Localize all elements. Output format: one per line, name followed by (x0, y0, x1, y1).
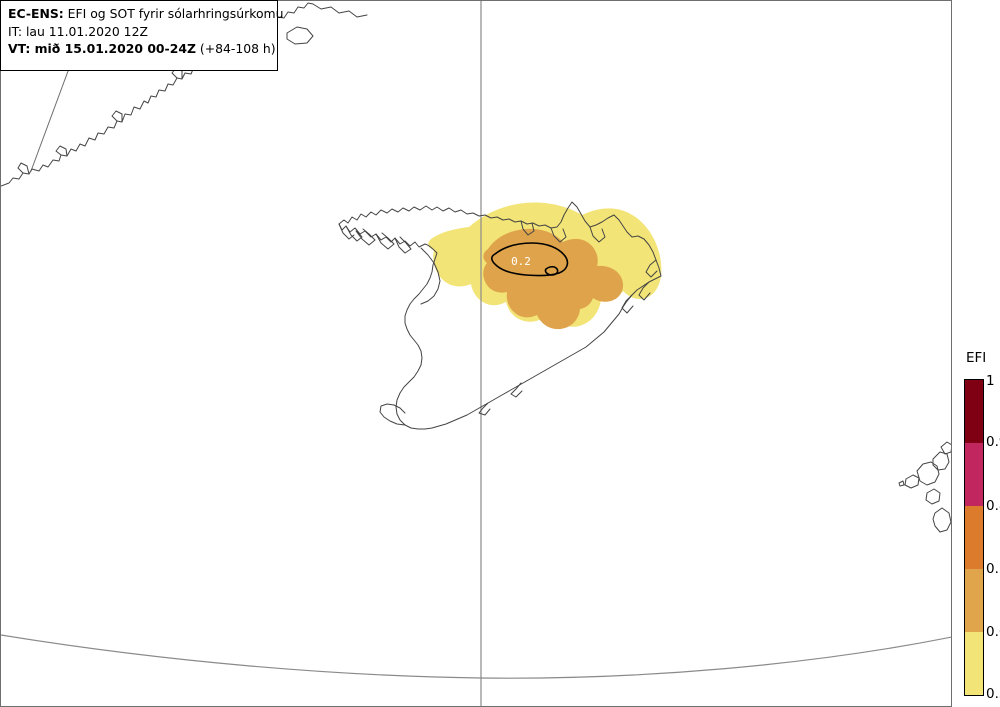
iceland-westfjords-detail (339, 224, 411, 253)
faroe-island-eysturoy (933, 452, 949, 470)
faroe-island-nordoyar (941, 442, 952, 454)
colorbar-tick-0.7: 0.7 (986, 561, 1000, 577)
map-panel[interactable]: 0.2 (0, 0, 952, 707)
colorbar-bands (964, 379, 984, 696)
greenland-inlet-c (112, 111, 122, 122)
sot-contour-label: 0.2 (511, 255, 531, 268)
header-line-model: EC-ENS: EFI og SOT fyrir sólarhringsúrko… (8, 6, 271, 23)
colorbar-tick-1: 1 (986, 373, 995, 389)
header-info-box: EC-ENS: EFI og SOT fyrir sólarhringsúrko… (0, 0, 278, 71)
faroe-islands (899, 442, 952, 532)
faroe-island-sandoy (926, 489, 940, 504)
colorbar-tick-0.9: 0.9 (986, 434, 1000, 450)
header-line-inittime: IT: lau 11.01.2020 12Z (8, 23, 271, 41)
colorbar-band-0.8-0.9 (965, 443, 983, 506)
model-label: EC-ENS: (8, 6, 64, 21)
lead-time-label: (+84-108 h) (196, 41, 276, 56)
greenland-inlet-a (18, 163, 29, 174)
valid-time-label: VT: mið 15.01.2020 00-24Z (8, 41, 196, 56)
colorbar-panel: EFI 1 0.9 0.8 0.7 0.6 0.5 (952, 0, 1000, 707)
colorbar-tick-0.8: 0.8 (986, 498, 1000, 514)
colorbar-band-0.9-1 (965, 380, 983, 443)
faroe-island-streymoy (917, 462, 939, 485)
colorbar-tick-0.6: 0.6 (986, 624, 1000, 640)
header-line-validtime: VT: mið 15.01.2020 00-24Z (+84-108 h) (8, 40, 271, 58)
greenland-north-coast (313, 4, 367, 17)
faroe-islet-small (899, 481, 904, 486)
greenland-fjord-island (287, 27, 313, 44)
parallel-line (1, 635, 952, 678)
colorbar-tick-0.5: 0.5 (986, 686, 1000, 702)
product-description: EFI og SOT fyrir sólarhringsúrkomu (64, 6, 284, 21)
graticule-layer (1, 1, 952, 707)
weather-map-screenshot: 0.2 EC-ENS: EFI og SOT fyrir sólarhrings… (0, 0, 1000, 707)
colorbar-title: EFI (966, 350, 986, 366)
faroe-island-vagar (905, 475, 919, 488)
colorbar-band-0.5-0.6 (965, 632, 983, 695)
colorbar-band-0.7-0.8 (965, 506, 983, 569)
colorbar-band-0.6-0.7 (965, 569, 983, 632)
map-canvas[interactable]: 0.2 (1, 1, 952, 707)
efi-shading-layer (428, 203, 661, 330)
faroe-island-suduroy (933, 508, 951, 532)
greenland-inlet-b (56, 146, 67, 156)
